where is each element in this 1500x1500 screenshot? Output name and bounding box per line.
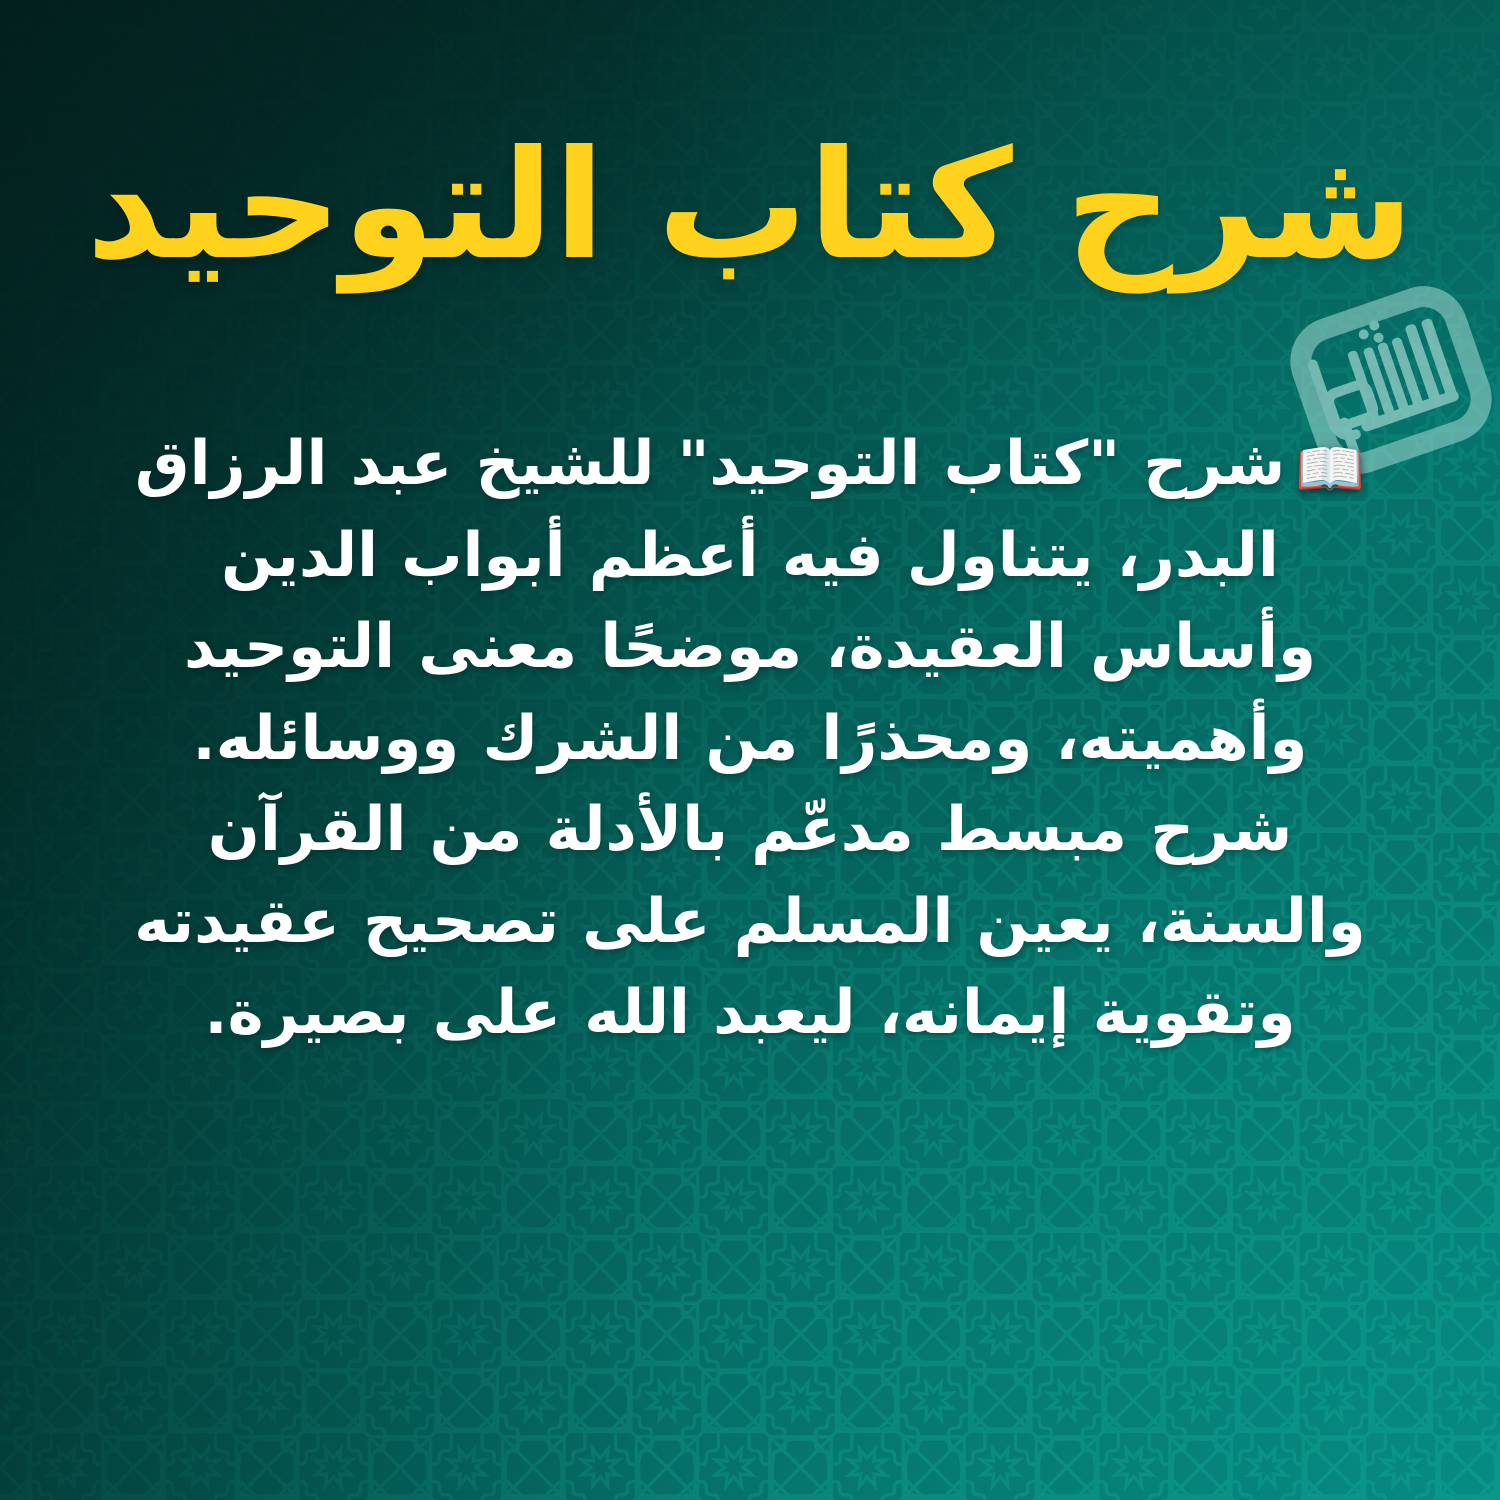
poster-description-text: شرح "كتاب التوحيد" للشيخ عبد الرزاق البد…: [134, 428, 1365, 1048]
poster-description: 📖شرح "كتاب التوحيد" للشيخ عبد الرزاق الب…: [120, 418, 1380, 1059]
open-book-icon: 📖: [1295, 442, 1365, 498]
body-container: 📖شرح "كتاب التوحيد" للشيخ عبد الرزاق الب…: [120, 418, 1380, 1059]
poster-title: شرح كتاب التوحيد: [86, 118, 1414, 295]
poster-canvas: شرح كتاب التوحيد: [0, 0, 1500, 1500]
title-container: شرح كتاب التوحيد: [0, 118, 1500, 295]
